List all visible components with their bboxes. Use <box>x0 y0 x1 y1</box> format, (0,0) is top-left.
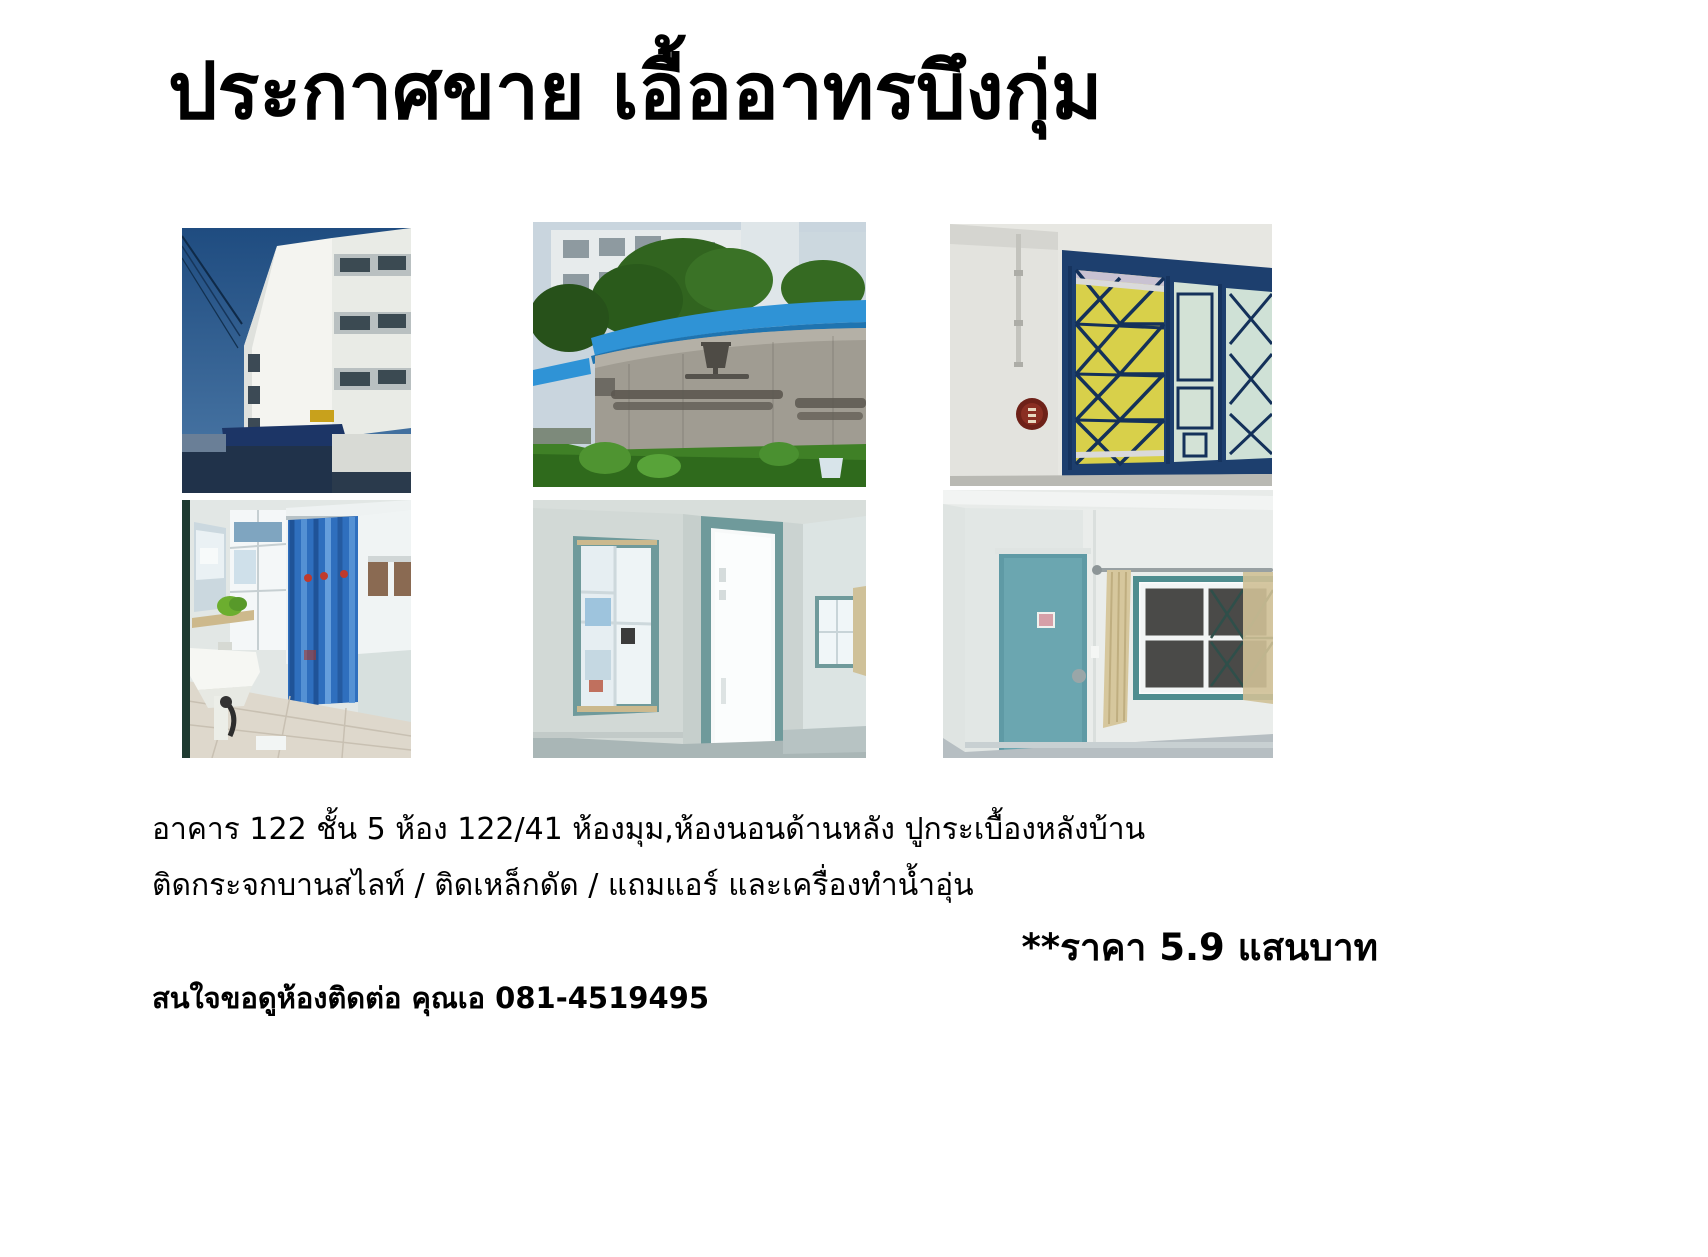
announcement-slide: ประกาศขาย เอื้ออาทรบึงกุ่ม <box>0 0 1708 1257</box>
contact-text: สนใจขอดูห้องติดต่อ คุณเอ 081-4519495 <box>152 975 709 1021</box>
bedroom-door-window-photo <box>943 490 1273 758</box>
bathroom-photo <box>182 500 411 758</box>
photo-grid <box>0 0 1708 1257</box>
page-title: ประกาศขาย เอื้ออาทรบึงกุ่ม <box>168 52 1568 134</box>
project-entrance-sign-photo <box>533 222 866 487</box>
description-line-1: อาคาร 122 ชั้น 5 ห้อง 122/41 ห้องมุม,ห้อ… <box>152 812 1145 848</box>
building-exterior-photo <box>182 228 411 493</box>
interior-window-door-photo <box>533 500 866 758</box>
description-line-2: ติดกระจกบานสไลท์ / ติดเหล็กดัด / แถมแอร์… <box>152 868 974 904</box>
price-text: **ราคา 5.9 แสนบาท <box>1021 918 1378 977</box>
window-grille-exterior-photo <box>950 224 1272 486</box>
